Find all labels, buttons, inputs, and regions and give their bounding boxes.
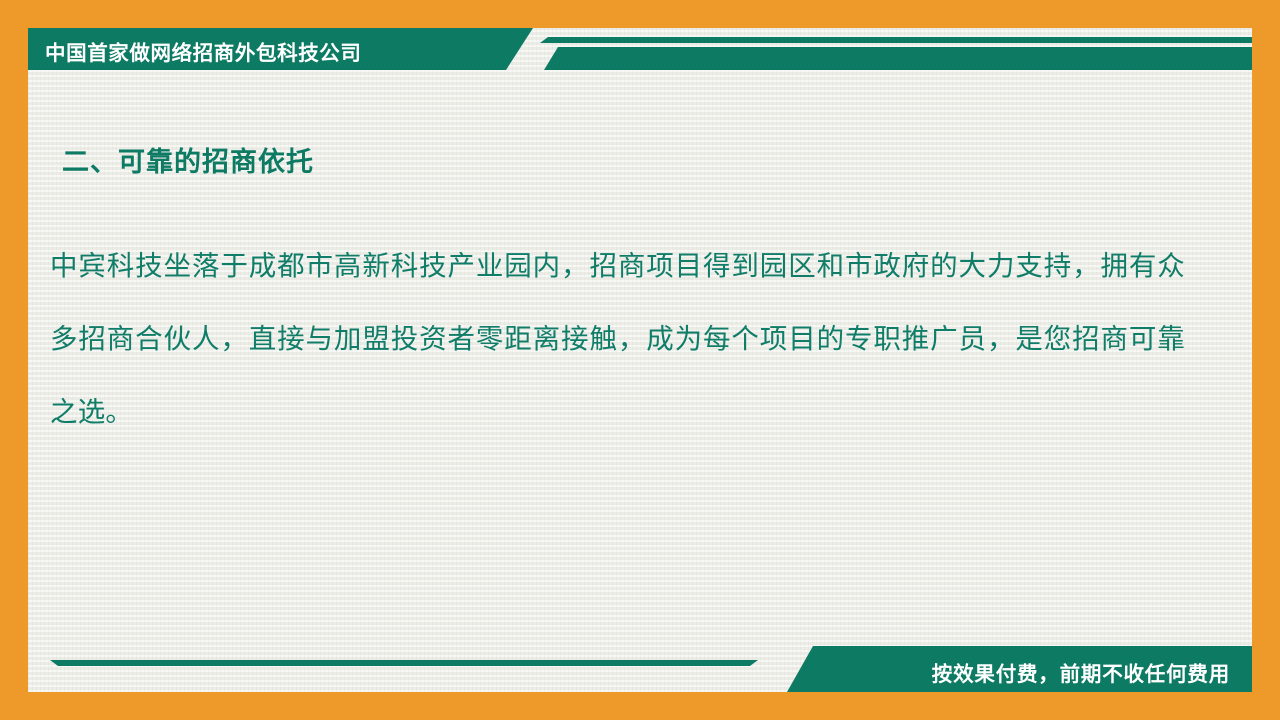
header-accent-bar-thin	[540, 37, 1252, 43]
slide-footer: 按效果付费，前期不收任何费用	[28, 646, 1252, 692]
header-accent-bar-thick	[544, 47, 1252, 70]
section-heading: 二、可靠的招商依托	[62, 140, 314, 179]
header-title: 中国首家做网络招商外包科技公司	[45, 36, 362, 66]
footer-tagline: 按效果付费，前期不收任何费用	[932, 657, 1230, 687]
presentation-slide: 中国首家做网络招商外包科技公司 二、可靠的招商依托 中宾科技坐落于成都市高新科技…	[0, 0, 1280, 720]
footer-accent-bar-thin	[50, 660, 758, 666]
body-paragraph: 中宾科技坐落于成都市高新科技产业园内，招商项目得到园区和市政府的大力支持，拥有众…	[50, 230, 1185, 449]
slide-header: 中国首家做网络招商外包科技公司	[28, 28, 1252, 70]
